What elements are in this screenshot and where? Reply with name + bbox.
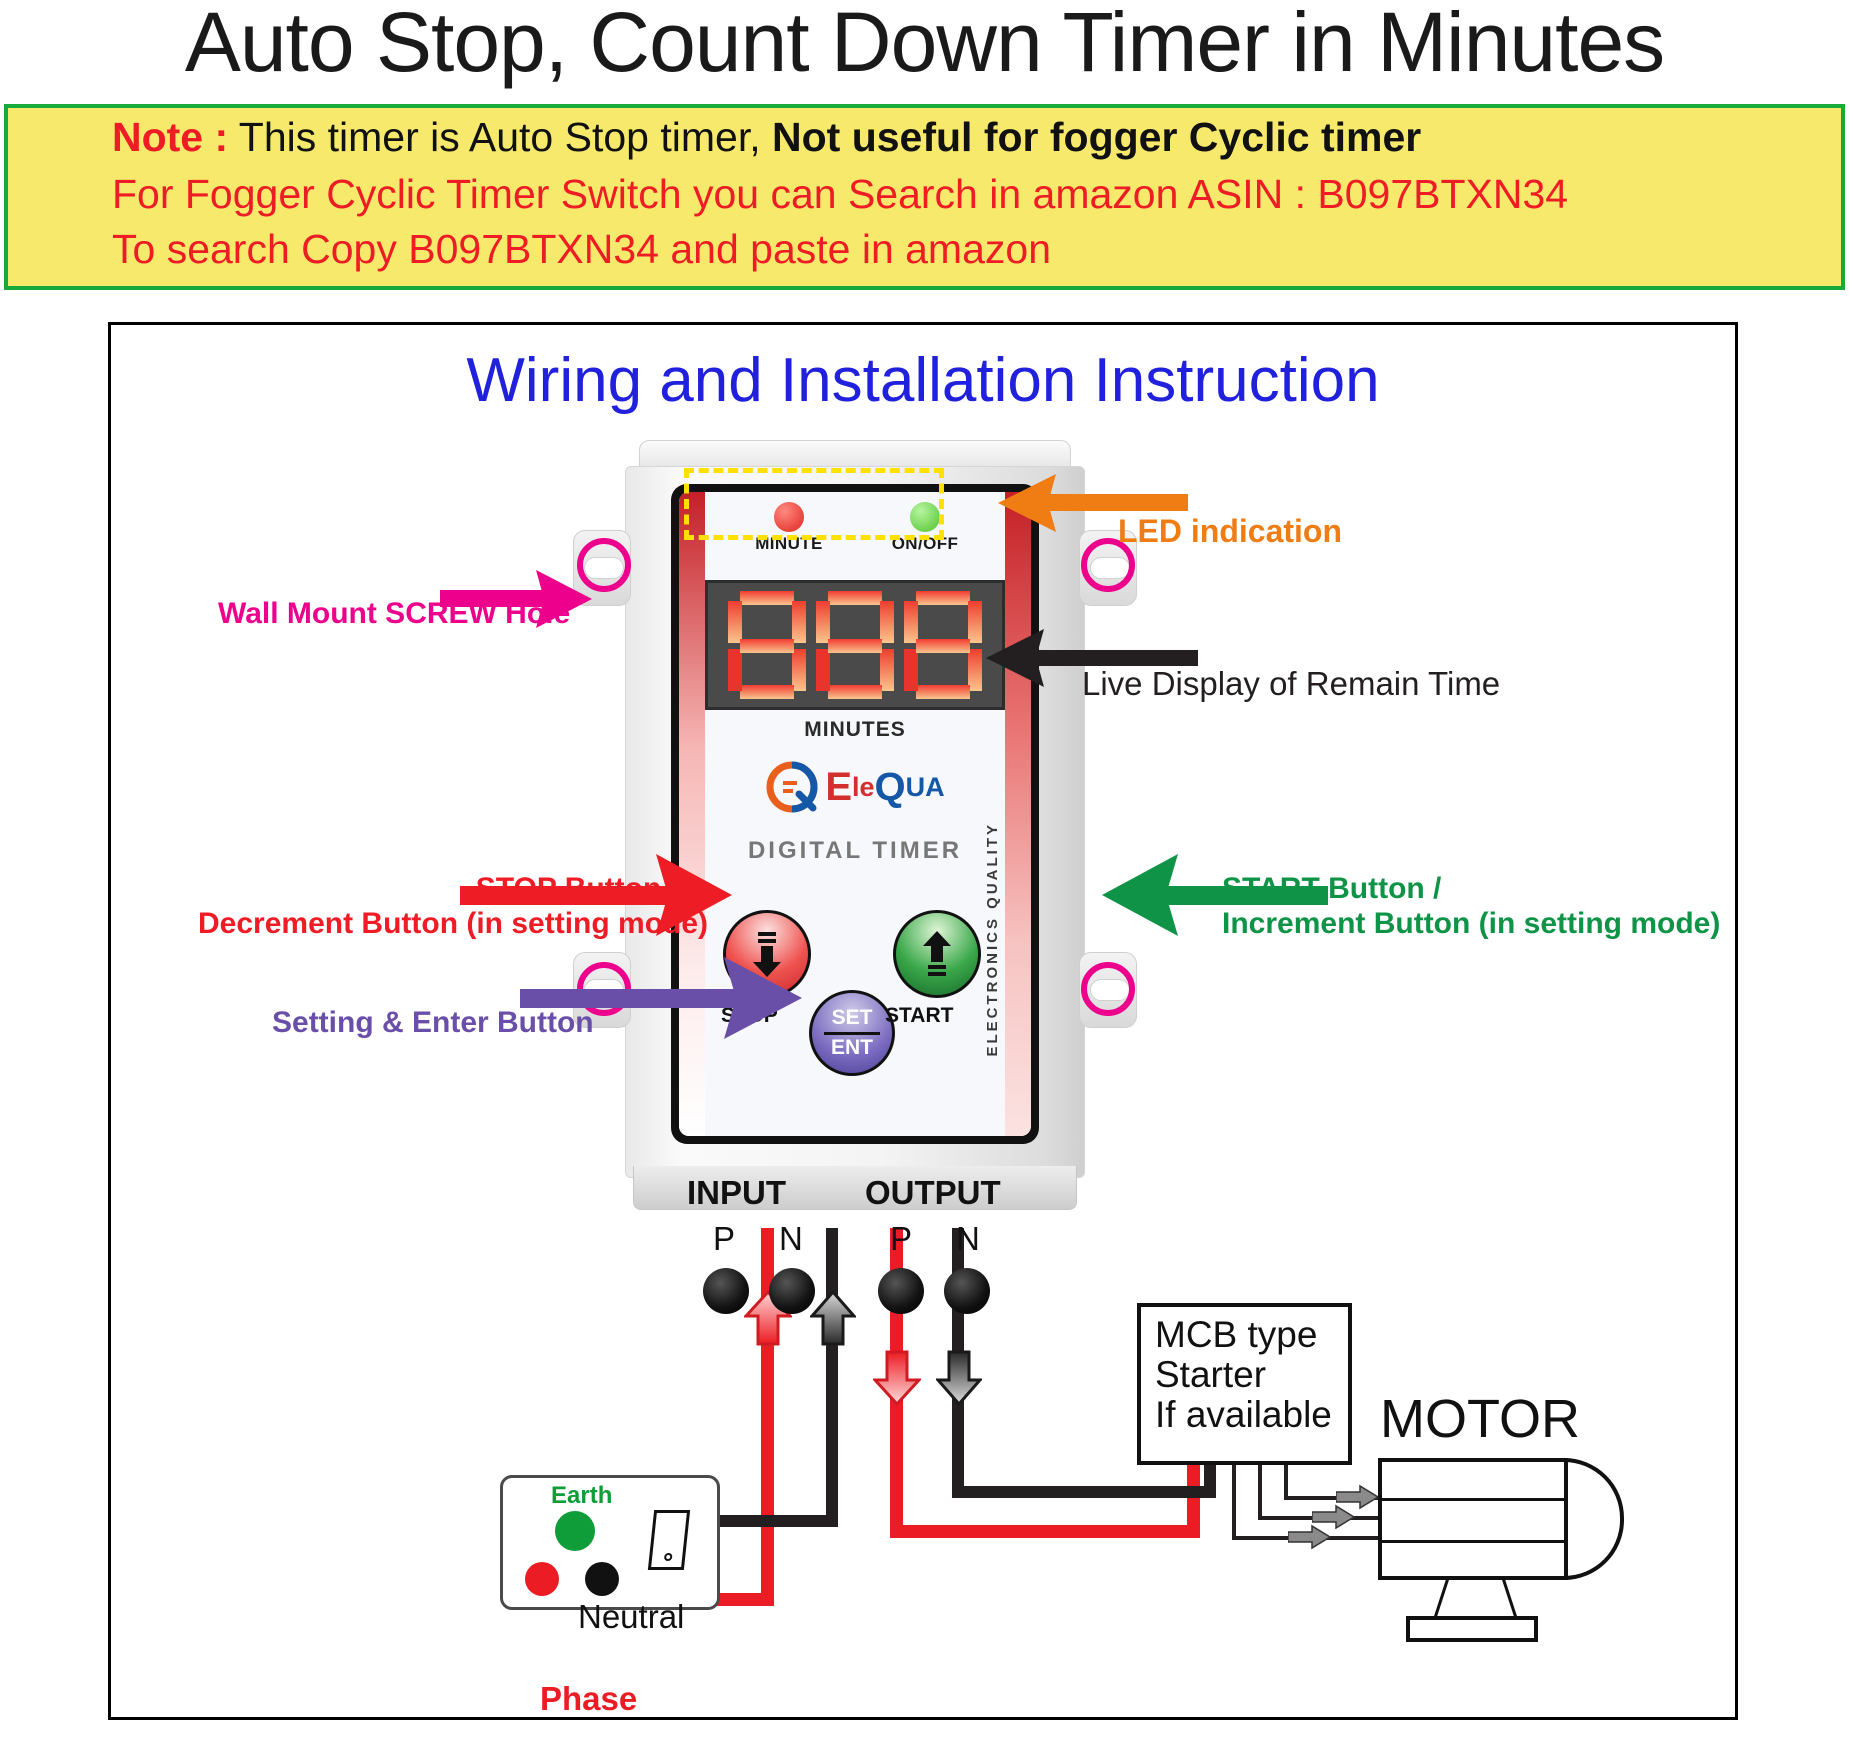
- led-indication-annotation: LED indication: [1118, 513, 1342, 550]
- ent-label: ENT: [831, 1037, 873, 1059]
- set-enter-divider: [824, 1032, 880, 1035]
- input-n-label: N: [779, 1220, 803, 1258]
- start-button-annotation: START Button / Increment Button (in sett…: [1222, 872, 1720, 942]
- logo-text-q: Q: [875, 767, 906, 807]
- input-group-label: INPUT: [687, 1174, 786, 1212]
- wall-socket: Earth: [500, 1475, 720, 1610]
- earth-label: Earth: [551, 1482, 612, 1510]
- terminal-input-p[interactable]: [703, 1268, 749, 1314]
- neutral-wire-label: Neutral: [578, 1598, 684, 1636]
- wall-mount-annotation: Wall Mount SCREW Hole: [218, 597, 570, 631]
- wire-mcb-motor-3-v: [1284, 1462, 1288, 1500]
- mcb-line-2: Starter: [1155, 1355, 1348, 1395]
- logo-text-e: E: [825, 767, 852, 807]
- logo-text-ua: UA: [906, 774, 945, 801]
- motor-body: [1378, 1458, 1568, 1580]
- wire-output-phase-horizontal: [890, 1525, 1200, 1538]
- wire-output-neutral-to-mcb: [1204, 1462, 1216, 1498]
- wire-output-neutral-horizontal: [952, 1486, 1216, 1498]
- terminal-output-n[interactable]: [944, 1268, 990, 1314]
- terminal-input-n[interactable]: [769, 1268, 815, 1314]
- mcb-line-3: If available: [1155, 1395, 1348, 1435]
- device-faceplate: MINUTE ON/OFF: [671, 484, 1039, 1144]
- flow-arrow-output-neutral-down: [936, 1350, 982, 1406]
- phase-pin-icon: [525, 1562, 559, 1596]
- note-box: Note : This timer is Auto Stop timer, No…: [4, 104, 1845, 290]
- display-unit-label: MINUTES: [679, 718, 1031, 742]
- flow-arrow-motor-3: [1336, 1484, 1380, 1510]
- socket-switch-icon[interactable]: [648, 1510, 690, 1570]
- start-annotation-line1: START Button /: [1222, 872, 1720, 907]
- logo-text-le: le: [852, 774, 875, 801]
- led-highlight-box: [684, 468, 944, 540]
- seven-segment-digit: [728, 591, 806, 699]
- seven-segment-display: [705, 580, 1005, 710]
- start-annotation-line2: Increment Button (in setting mode): [1222, 907, 1720, 942]
- stop-annotation-line2: Decrement Button (in setting mode): [198, 907, 678, 942]
- terminal-output-p[interactable]: [878, 1268, 924, 1314]
- motor-base: [1406, 1616, 1538, 1642]
- set-label: SET: [832, 1007, 873, 1029]
- output-p-label: P: [890, 1220, 912, 1258]
- switch-dot-icon: [664, 1553, 673, 1561]
- neutral-pin-icon: [585, 1562, 619, 1596]
- up-arrow-icon: [917, 930, 957, 978]
- flow-arrow-output-phase-down: [873, 1350, 921, 1406]
- mcb-starter-box: MCB type Starter If available: [1137, 1303, 1352, 1465]
- note-line-2: For Fogger Cyclic Timer Switch you can S…: [112, 171, 1568, 218]
- output-n-label: N: [956, 1220, 980, 1258]
- electronics-quality-text: ELECTRONICS QUALITY: [984, 822, 1001, 1057]
- phase-wire-label: Phase: [540, 1680, 637, 1718]
- wire-mcb-motor-2-v: [1258, 1462, 1262, 1520]
- live-display-annotation: Live Display of Remain Time: [1082, 665, 1500, 703]
- wire-mcb-motor-1-v: [1232, 1462, 1236, 1540]
- page-title: Auto Stop, Count Down Timer in Minutes: [0, 0, 1849, 91]
- note-line1-bold: Not useful for fogger Cyclic timer: [772, 114, 1421, 160]
- motor-divider: [1382, 1498, 1564, 1501]
- note-line-3: To search Copy B097BTXN34 and paste in a…: [112, 226, 1051, 273]
- motor-label: MOTOR: [1380, 1388, 1580, 1450]
- brand-logo: EleQUA: [679, 760, 1031, 814]
- wire-output-phase-to-mcb: [1187, 1462, 1200, 1538]
- decor-stripe-right: [1005, 492, 1031, 1136]
- start-button-caption: START: [885, 1004, 953, 1028]
- earth-pin-icon: [555, 1511, 595, 1551]
- diagram-heading: Wiring and Installation Instruction: [111, 345, 1735, 416]
- screw-hole-marker-bottom-right: [1081, 962, 1135, 1016]
- seven-segment-digit: [816, 591, 894, 699]
- note-line-1: Note : This timer is Auto Stop timer, No…: [112, 114, 1421, 161]
- stop-annotation-line1: STOP Button /: [198, 872, 678, 907]
- start-button[interactable]: [893, 910, 981, 998]
- motor-divider: [1382, 1540, 1564, 1543]
- note-line1-plain: This timer is Auto Stop timer,: [228, 114, 772, 160]
- elequa-emblem-icon: [765, 760, 819, 814]
- stop-button-annotation: STOP Button / Decrement Button (in setti…: [198, 872, 678, 942]
- note-label: Note :: [112, 114, 228, 160]
- terminal-area: INPUT OUTPUT P N P N: [625, 1180, 1085, 1310]
- digital-timer-device: MINUTE ON/OFF: [625, 440, 1085, 1230]
- mcb-line-1: MCB type: [1155, 1315, 1348, 1355]
- setting-enter-annotation: Setting & Enter Button: [272, 1006, 594, 1040]
- input-p-label: P: [713, 1220, 735, 1258]
- set-enter-button[interactable]: SET ENT: [809, 990, 895, 1076]
- output-group-label: OUTPUT: [865, 1174, 1001, 1212]
- seven-segment-digit: [904, 591, 982, 699]
